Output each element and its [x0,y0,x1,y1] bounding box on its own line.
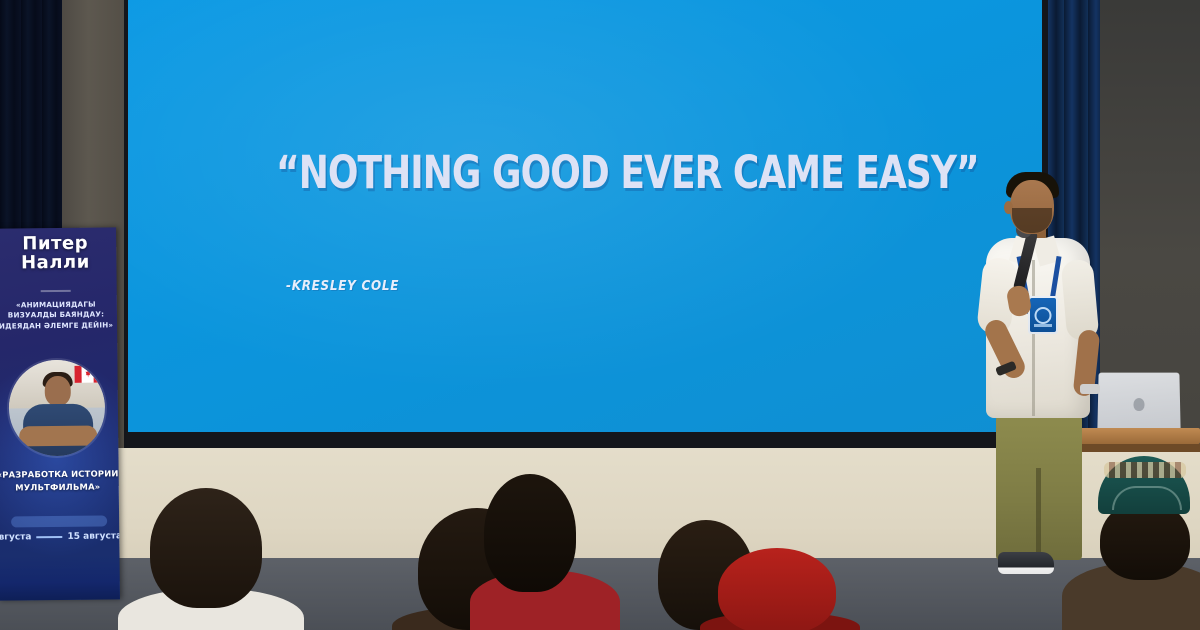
speaker-badge [1028,296,1058,334]
banner-date-start: августа [0,532,32,542]
badge-text-line [1034,324,1052,327]
audience-member-5-head [718,548,836,630]
badge-logo-icon [1035,307,1052,324]
speaker-leg-divide [1036,468,1041,560]
audience-member-1-head [150,488,262,608]
banner-speaker-photo [8,360,105,457]
banner-date-end: 15 августа [67,531,120,542]
speaker-wristband-right [1080,384,1100,394]
badge-card [1030,298,1056,332]
banner-divider [41,290,71,292]
banner-subtitle: «АНИМАЦИЯДАГЫ ВИЗУАЛДЫ БАЯНДАУ: ИДЕЯДАН … [0,299,120,332]
laptop-logo-icon [1133,398,1144,411]
banner-event-title: «РАЗРАБОТКА ИСТОРИИ МУЛЬТФИЛЬМА» [0,467,120,494]
cap-embroidery-pattern [1104,462,1186,478]
speaker-arm-right [1061,259,1100,341]
slide-quote-text: “NOTHING GOOD EVER CAME EASY” [276,150,788,195]
photo-head [45,376,71,406]
audience-member-3-head [484,474,576,592]
speaker-shoe [998,552,1054,574]
banner-dates: августа 15 августа [0,531,120,542]
banner-speaker-name: Питер Налли [0,233,117,273]
rollup-banner: Питер Налли «АНИМАЦИЯДАГЫ ВИЗУАЛДЫ БАЯНД… [0,227,120,600]
screen-glare [128,0,1042,432]
banner-name-line2: Налли [0,253,117,274]
date-dash-icon [36,536,62,538]
speaker-shirt-placket [1032,260,1035,416]
photo-arms [19,426,97,447]
slide-quote-attribution: -KRESLEY COLE [286,279,399,294]
banner-pill [11,515,107,527]
canada-flag-icon [74,366,100,383]
banner-footer [0,555,120,600]
cap-arc-detail [1112,486,1182,510]
presentation-photo-scene: “NOTHING GOOD EVER CAME EASY” -KRESLEY C… [0,0,1200,630]
projection-screen: “NOTHING GOOD EVER CAME EASY” -KRESLEY C… [128,0,1042,432]
